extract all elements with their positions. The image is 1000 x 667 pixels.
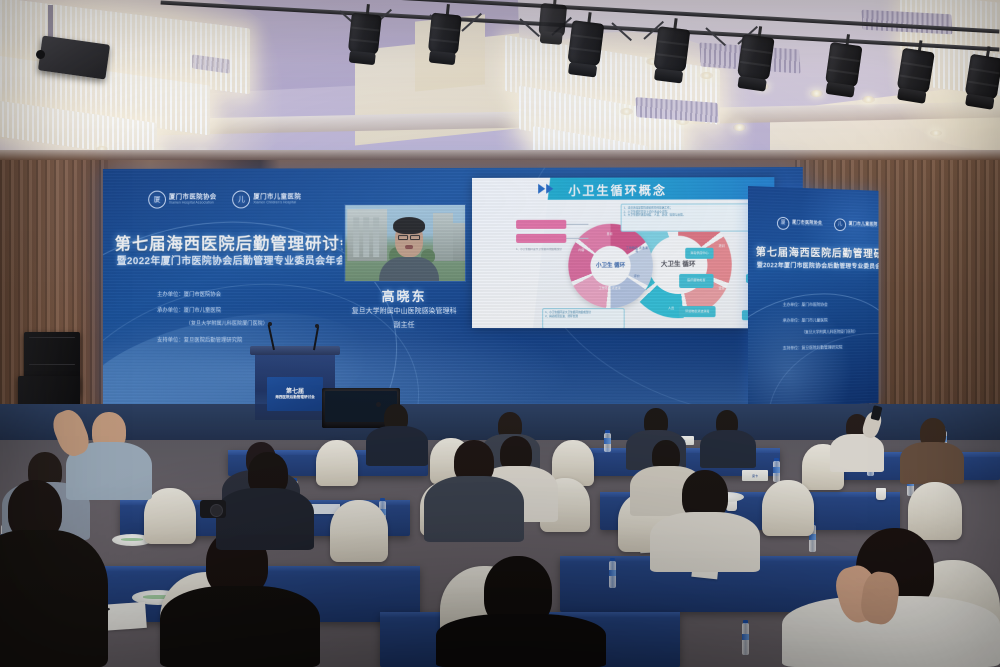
paper-cup: [876, 488, 886, 500]
attendee-body: [830, 434, 884, 472]
main-led-screen: 厦 厦门市医院协会 Xiamen Hospital Association 儿 …: [103, 167, 803, 411]
podium-line-2: 海西医院后勤管理研讨会: [267, 395, 323, 400]
attendee-body: [366, 426, 428, 466]
podium-line-1: 第七届: [267, 386, 323, 395]
attendee-body: [900, 442, 964, 484]
conference-hall-photo: 厦 厦门市医院协会 Xiamen Hospital Association 儿 …: [0, 0, 1000, 667]
attendee-body: [650, 512, 760, 572]
water-bottle: [608, 558, 617, 588]
chandelier-left: [0, 10, 260, 160]
conference-chair: [316, 440, 358, 486]
water-bottle: [772, 458, 780, 482]
attendee-body: [0, 530, 108, 667]
conference-chair: [908, 482, 962, 540]
attendee-body: [216, 488, 314, 550]
attendee-body: [700, 430, 756, 468]
camera-lens-icon: [210, 504, 223, 517]
attendee-body: [436, 614, 606, 667]
side-led-screen: 厦 厦门市医院协会 Xiamen Hospital Association 儿 …: [748, 186, 879, 408]
water-bottle: [740, 620, 750, 656]
conference-chair: [762, 480, 814, 536]
conference-chair: [330, 500, 388, 562]
attendee-body: [160, 586, 320, 667]
stage-spotlight: [538, 0, 568, 41]
stage-spotlight: [427, 3, 463, 62]
water-bottle: [604, 430, 611, 452]
podium-branding-plate: 第七届 海西医院后勤管理研讨会: [267, 377, 323, 411]
attendee-body: [424, 476, 524, 542]
stage-spotlight: [347, 3, 383, 62]
table-name-card: 席卡: [742, 470, 768, 481]
